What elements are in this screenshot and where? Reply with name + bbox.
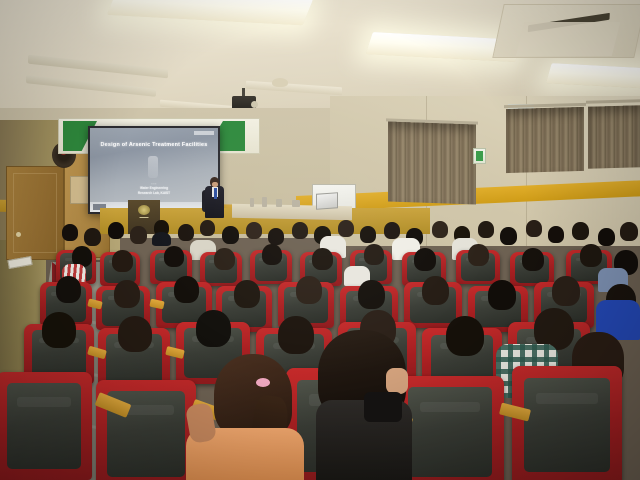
audience-head <box>620 222 638 241</box>
slide-header-logo-icon <box>194 131 214 135</box>
audience-head <box>414 248 436 271</box>
audience-head <box>360 226 376 243</box>
audience-head <box>222 226 239 244</box>
auditorium-seat-foreground[interactable] <box>96 380 196 480</box>
audience-head <box>338 220 354 237</box>
auditorium-seat-foreground[interactable] <box>396 376 504 480</box>
audience-head <box>552 276 580 306</box>
audience-head <box>262 244 282 265</box>
audience-head <box>42 312 76 348</box>
seat-armrest <box>149 299 164 310</box>
audience-head <box>278 316 314 354</box>
auditorium-seat-foreground[interactable] <box>512 366 622 480</box>
audience-head <box>164 246 184 267</box>
audience-head <box>56 276 81 303</box>
audience-head <box>432 221 448 238</box>
audience-head <box>114 280 140 308</box>
table-item-1 <box>250 198 254 207</box>
audience-head <box>292 222 308 239</box>
audience-head <box>62 224 78 241</box>
slide-subtitle-line-3: Research Lab, KAIST <box>90 191 218 195</box>
audience-head <box>598 228 615 246</box>
audience-head <box>108 222 124 239</box>
audience-head <box>174 276 199 303</box>
audience-head <box>268 228 284 245</box>
presenter-laptop[interactable] <box>316 192 338 210</box>
audience-head <box>548 226 564 243</box>
exit-sign-icon <box>473 148 486 164</box>
audience-head <box>384 222 400 239</box>
audience-head <box>200 220 215 236</box>
slide-subtitle: · · · Water Engineering Research Lab, KA… <box>90 182 218 195</box>
door-handle-icon[interactable] <box>16 232 21 237</box>
table-item-4 <box>292 200 300 207</box>
ceiling-ac-vent-inner <box>516 22 620 56</box>
window-curtain-2[interactable] <box>506 107 584 173</box>
window-curtain-1[interactable] <box>388 121 476 204</box>
audience-head <box>112 250 133 272</box>
audience-head <box>500 227 517 245</box>
audience-head <box>446 316 484 356</box>
audience-head <box>178 224 194 241</box>
speaker-face <box>212 182 218 187</box>
audience-head-cap <box>152 232 171 246</box>
wall-poster <box>70 176 90 204</box>
lecture-hall-photo: ────── Design of Arsenic Treatment Facil… <box>0 0 640 480</box>
audience-head <box>522 248 544 271</box>
audience-head <box>196 310 231 347</box>
audience-head <box>312 248 333 270</box>
audience-head <box>488 280 516 310</box>
audience-head <box>246 222 262 239</box>
table-item-2 <box>262 197 267 207</box>
audience-head <box>214 248 235 270</box>
audience-head <box>468 244 489 266</box>
audience-head <box>572 222 589 240</box>
audience-head <box>526 220 542 237</box>
audience-head <box>358 280 385 309</box>
audience-head <box>478 221 494 238</box>
speaker-tie <box>214 188 217 199</box>
audience-head <box>130 226 147 244</box>
audience-head <box>364 244 384 265</box>
audience-head <box>118 316 152 352</box>
hair-tie-icon <box>256 378 270 387</box>
auditorium-seat-foreground[interactable] <box>0 372 92 480</box>
bag-item <box>364 392 402 422</box>
projector-lens-icon <box>251 101 258 108</box>
window-curtain-3[interactable] <box>588 105 640 168</box>
audience-head <box>296 276 322 304</box>
side-door-1[interactable] <box>6 166 64 260</box>
audience-head <box>422 276 449 305</box>
audience-head <box>84 228 101 246</box>
smoke-detector <box>272 78 288 87</box>
audience-head <box>580 244 602 267</box>
slide-diagram-graphic <box>148 156 158 178</box>
slide-title: Design of Arsenic Treatment Facilities <box>90 142 218 148</box>
table-item-3 <box>276 199 282 207</box>
foreground-person-2-hand <box>386 368 408 394</box>
audience-head <box>234 280 260 308</box>
